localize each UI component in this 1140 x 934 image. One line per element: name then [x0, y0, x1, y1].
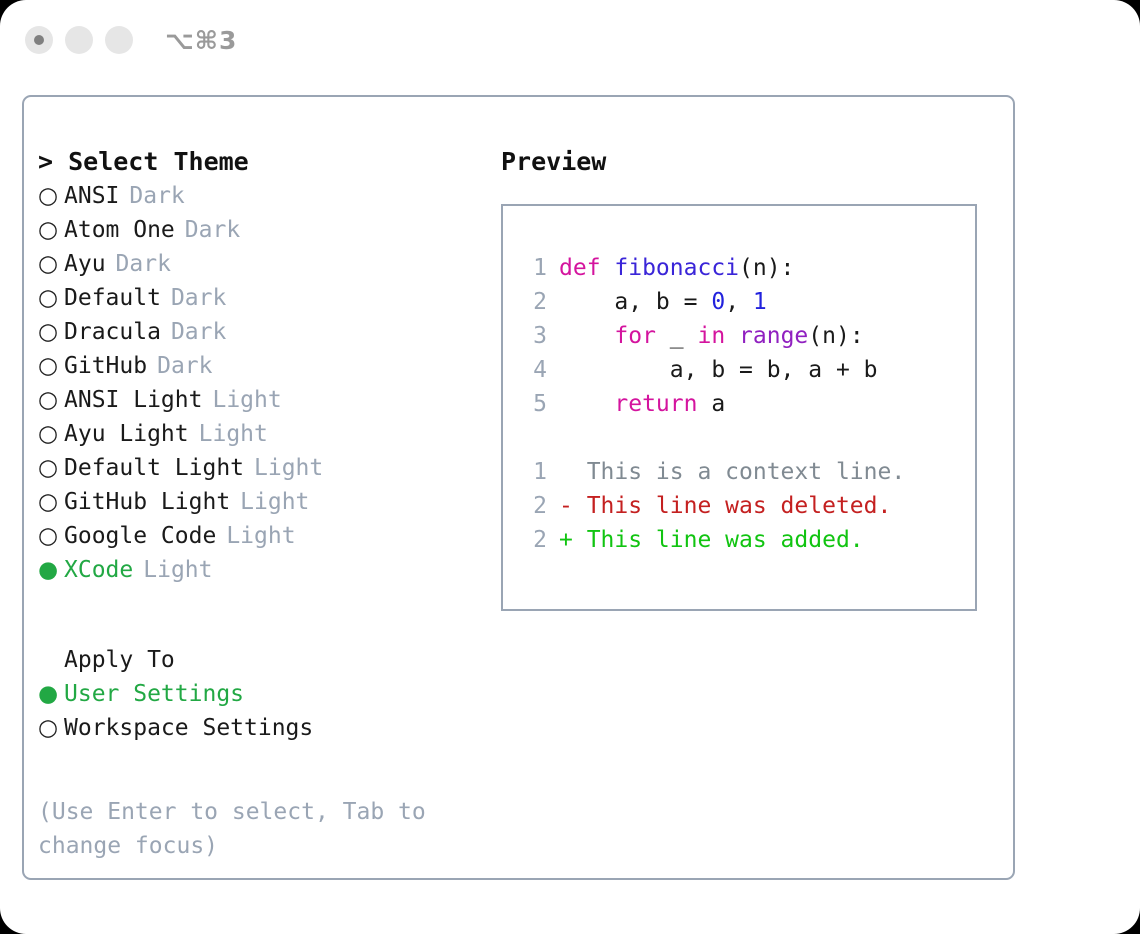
keyboard-shortcut-label: ⌥⌘3: [165, 26, 237, 55]
code-line: 5 return a: [517, 387, 975, 421]
diff-line: 2+ This line was added.: [517, 523, 975, 557]
theme-option-label: ANSI: [64, 179, 119, 213]
window-dot-third-icon[interactable]: [105, 26, 133, 54]
theme-option-github-light[interactable]: ○GitHub LightLight: [38, 485, 478, 519]
theme-option-label: GitHub: [64, 349, 147, 383]
window-controls: [25, 26, 133, 54]
code-token: (n):: [739, 255, 794, 281]
theme-option-dracula[interactable]: ○DraculaDark: [38, 315, 478, 349]
apply-to-option-workspace-settings[interactable]: ○Workspace Settings: [38, 711, 478, 745]
radio-unselected-icon: ○: [38, 349, 64, 383]
theme-option-github[interactable]: ○GitHubDark: [38, 349, 478, 383]
theme-picker-pane: > Select Theme ○ANSIDark○Atom OneDark○Ay…: [38, 145, 478, 863]
code-line: 4 a, b = b, a + b: [517, 353, 975, 387]
code-token: a, b =: [559, 289, 711, 315]
theme-option-ansi-light[interactable]: ○ANSI LightLight: [38, 383, 478, 417]
code-token: 0: [711, 289, 725, 315]
radio-unselected-icon: ○: [38, 281, 64, 315]
radio-selected-icon: ●: [38, 677, 64, 711]
diff-line-number: 1: [517, 455, 547, 489]
code-token: return: [614, 391, 697, 417]
code-token: ,: [725, 289, 753, 315]
theme-option-default[interactable]: ○DefaultDark: [38, 281, 478, 315]
radio-unselected-icon: ○: [38, 485, 64, 519]
code-sample: 1def fibonacci(n):2 a, b = 0, 13 for _ i…: [517, 251, 975, 421]
theme-option-ayu-light[interactable]: ○Ayu LightLight: [38, 417, 478, 451]
theme-option-kind-badge: Light: [240, 485, 309, 519]
theme-option-kind-badge: Light: [226, 519, 295, 553]
code-token: [725, 323, 739, 349]
radio-unselected-icon: ○: [38, 451, 64, 485]
keyboard-hint-text: (Use Enter to select, Tab to change focu…: [38, 795, 448, 863]
code-token: 1: [753, 289, 767, 315]
code-token: for: [614, 323, 656, 349]
radio-unselected-icon: ○: [38, 417, 64, 451]
code-line: 1def fibonacci(n):: [517, 251, 975, 285]
theme-option-label: XCode: [64, 553, 133, 587]
radio-unselected-icon: ○: [38, 213, 64, 247]
diff-line-content: - This line was deleted.: [559, 489, 891, 523]
code-line-content: a, b = b, a + b: [559, 353, 878, 387]
code-line-content: a, b = 0, 1: [559, 285, 767, 319]
window-dot-active-icon[interactable]: [25, 26, 53, 54]
theme-option-label: Default: [64, 281, 161, 315]
theme-option-label: Atom One: [64, 213, 175, 247]
code-line-number: 1: [517, 251, 547, 285]
diff-line: 1 This is a context line.: [517, 455, 975, 489]
code-line: 2 a, b = 0, 1: [517, 285, 975, 319]
theme-option-ayu[interactable]: ○AyuDark: [38, 247, 478, 281]
code-token: a: [697, 391, 725, 417]
preview-pane: Preview 1def fibonacci(n):2 a, b = 0, 13…: [501, 145, 991, 611]
window-dot-second-icon[interactable]: [65, 26, 93, 54]
diff-line-content: This is a context line.: [559, 455, 905, 489]
theme-option-label: Default Light: [64, 451, 244, 485]
theme-option-label: ANSI Light: [64, 383, 202, 417]
preview-title: Preview: [501, 145, 991, 179]
code-token: fibonacci: [614, 255, 739, 281]
theme-option-label: Ayu: [64, 247, 106, 281]
theme-option-kind-badge: Light: [199, 417, 268, 451]
theme-option-kind-badge: Dark: [157, 349, 212, 383]
theme-list[interactable]: ○ANSIDark○Atom OneDark○AyuDark○DefaultDa…: [38, 179, 478, 587]
apply-to-header: Apply To: [38, 643, 478, 677]
apply-to-list[interactable]: ●User Settings○Workspace Settings: [38, 677, 478, 745]
diff-sample: 1 This is a context line.2- This line wa…: [517, 455, 975, 557]
code-token: [559, 323, 614, 349]
code-line-number: 4: [517, 353, 547, 387]
radio-unselected-icon: ○: [38, 247, 64, 281]
theme-option-label: Ayu Light: [64, 417, 189, 451]
diff-line-number: 2: [517, 523, 547, 557]
theme-option-default-light[interactable]: ○Default LightLight: [38, 451, 478, 485]
diff-line-content: + This line was added.: [559, 523, 864, 557]
theme-option-kind-badge: Dark: [129, 179, 184, 213]
title-bar: ⌥⌘3: [0, 0, 1140, 80]
apply-to-option-label: Workspace Settings: [64, 711, 313, 745]
code-token: [559, 391, 614, 417]
theme-option-kind-badge: Dark: [185, 213, 240, 247]
apply-to-option-user-settings[interactable]: ●User Settings: [38, 677, 478, 711]
theme-option-kind-badge: Light: [254, 451, 323, 485]
theme-option-atom-one[interactable]: ○Atom OneDark: [38, 213, 478, 247]
theme-option-kind-badge: Light: [212, 383, 281, 417]
theme-option-google-code[interactable]: ○Google CodeLight: [38, 519, 478, 553]
theme-option-ansi[interactable]: ○ANSIDark: [38, 179, 478, 213]
code-spacer: [517, 421, 975, 455]
content-frame: > Select Theme ○ANSIDark○Atom OneDark○Ay…: [22, 95, 1015, 880]
code-token: (n):: [808, 323, 863, 349]
code-token: _: [656, 323, 698, 349]
radio-unselected-icon: ○: [38, 179, 64, 213]
code-token: a, b = b, a + b: [559, 357, 878, 383]
code-line-number: 5: [517, 387, 547, 421]
radio-selected-icon: ●: [38, 553, 64, 587]
theme-option-label: Google Code: [64, 519, 216, 553]
code-token: range: [739, 323, 808, 349]
theme-option-kind-badge: Dark: [116, 247, 171, 281]
window-dot-active-center: [34, 35, 44, 45]
theme-option-kind-badge: Dark: [171, 315, 226, 349]
code-line: 3 for _ in range(n):: [517, 319, 975, 353]
radio-unselected-icon: ○: [38, 711, 64, 745]
theme-option-kind-badge: Light: [143, 553, 212, 587]
code-line-content: for _ in range(n):: [559, 319, 864, 353]
preview-box: 1def fibonacci(n):2 a, b = 0, 13 for _ i…: [501, 204, 977, 611]
theme-option-kind-badge: Dark: [171, 281, 226, 315]
apply-to-option-label: User Settings: [64, 677, 244, 711]
theme-option-label: Dracula: [64, 315, 161, 349]
code-line-content: def fibonacci(n):: [559, 251, 794, 285]
code-line-number: 3: [517, 319, 547, 353]
diff-line-number: 2: [517, 489, 547, 523]
theme-option-label: GitHub Light: [64, 485, 230, 519]
code-token: in: [697, 323, 725, 349]
radio-unselected-icon: ○: [38, 383, 64, 417]
code-line-number: 2: [517, 285, 547, 319]
code-line-content: return a: [559, 387, 725, 421]
theme-option-xcode[interactable]: ●XCodeLight: [38, 553, 478, 587]
diff-line: 2- This line was deleted.: [517, 489, 975, 523]
theme-picker-header: > Select Theme: [38, 145, 478, 179]
code-token: def: [559, 255, 614, 281]
app-window: ⌥⌘3 > Select Theme ○ANSIDark○Atom OneDar…: [0, 0, 1140, 934]
radio-unselected-icon: ○: [38, 315, 64, 349]
radio-unselected-icon: ○: [38, 519, 64, 553]
